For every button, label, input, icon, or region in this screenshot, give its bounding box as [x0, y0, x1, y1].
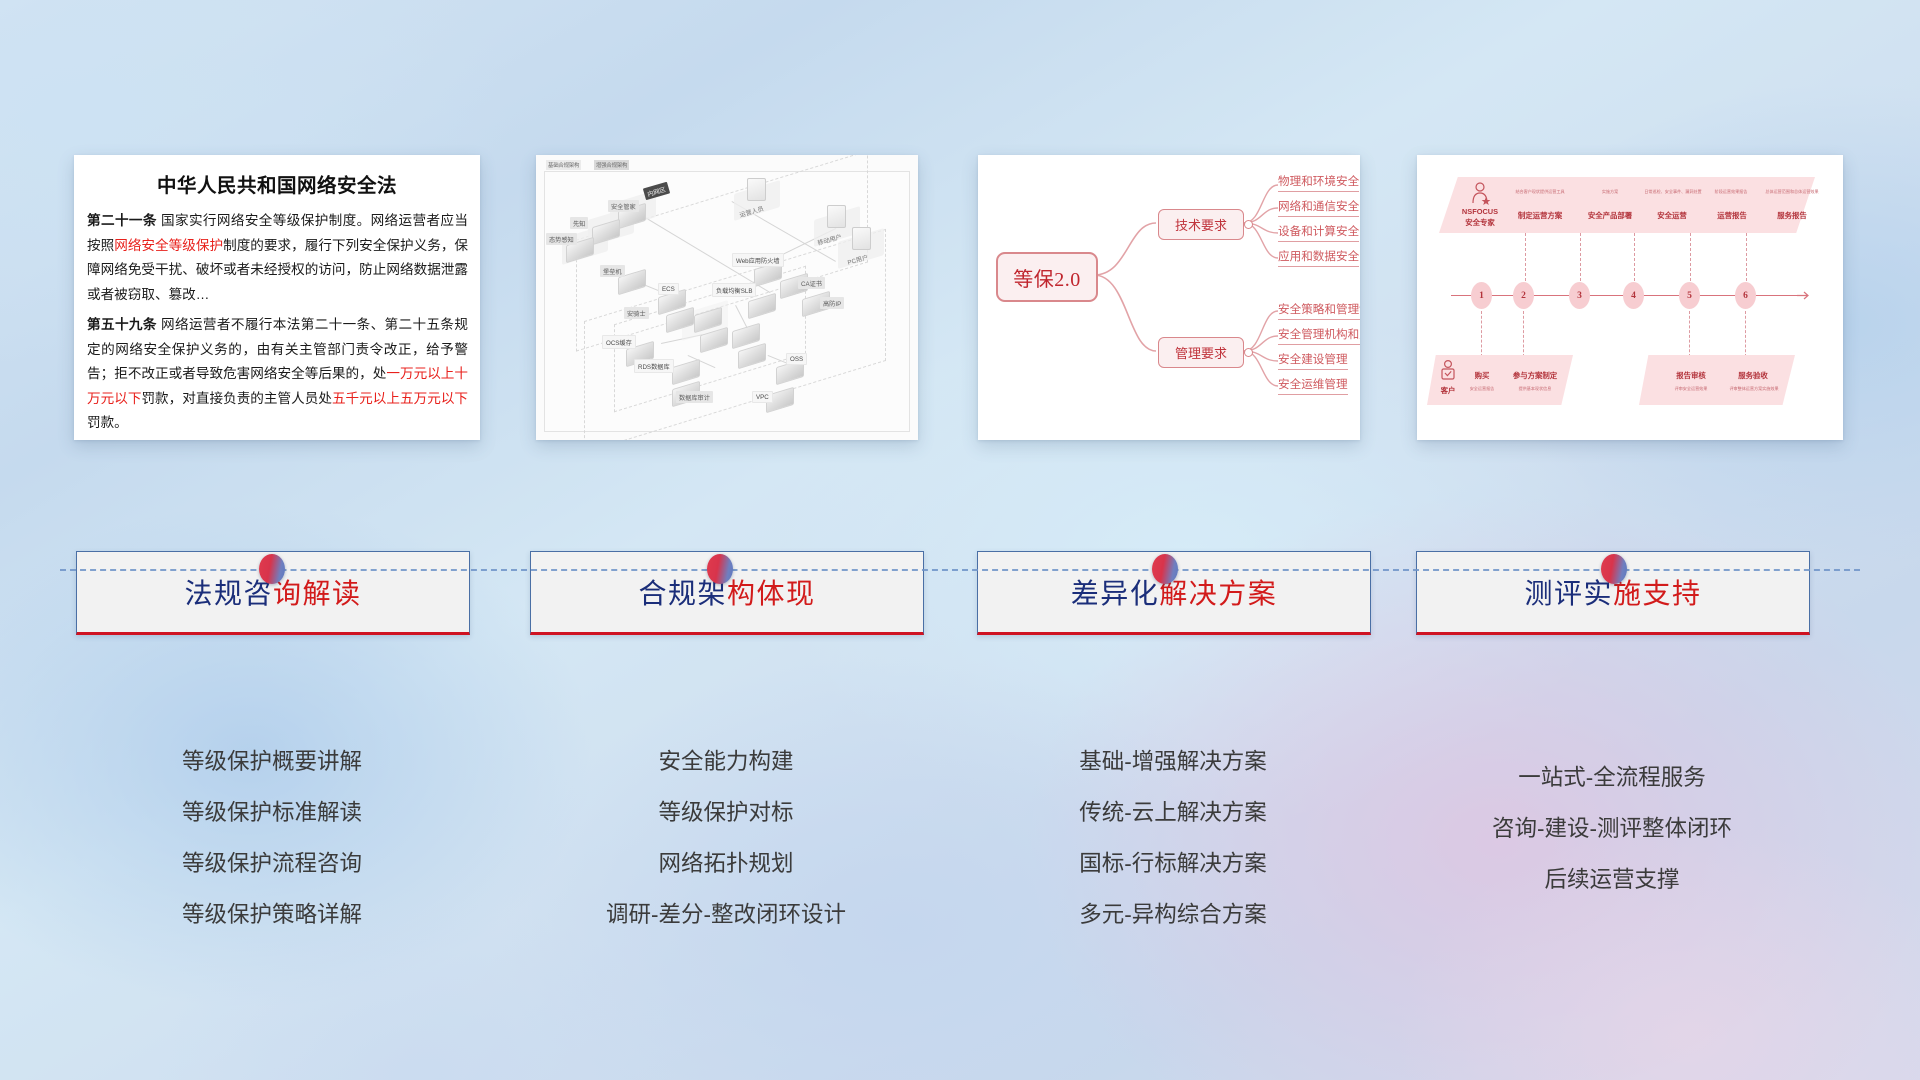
mindmap-leaf-tech-0: 物理和环境安全 — [1278, 173, 1359, 192]
arch-label-oss: OSS — [786, 353, 807, 365]
arch-label-waf: Web应用防火墙 — [732, 253, 784, 267]
arch-label-taishi: 态势感知 — [546, 233, 577, 245]
mindmap-branch-technical: 技术要求 — [1158, 209, 1244, 240]
list-item: 安全能力构建 — [530, 736, 922, 787]
roadmap-node-4: 4 — [1623, 282, 1644, 309]
customer-icon — [1439, 359, 1457, 383]
card-service-roadmap: NSFOCUS 安全专家 结合客户现状提供运营工具 制定运营方案 实施方案 安全… — [1417, 155, 1843, 440]
roadmap-step-2-title: 参与方案制定 — [1503, 370, 1567, 381]
roadmap-conn-top-6 — [1746, 233, 1748, 281]
timeline-dashed-line — [60, 569, 1860, 571]
roadmap-top-sub-4: 总体运营范围和总体运营效果 — [1737, 189, 1843, 195]
pillar-items-1: 安全能力构建 等级保护对标 网络拓扑规划 调研-差分-整改闭环设计 — [530, 736, 922, 940]
law-21-run-1-highlight: 网络安全等级保护 — [114, 238, 223, 253]
mindmap-branch-technical-label: 技术要求 — [1175, 215, 1227, 234]
timeline-dot-3[interactable] — [1601, 554, 1627, 584]
roadmap-step-5-sub: 评审安全运营效果 — [1661, 386, 1721, 392]
roadmap-node-2-number: 2 — [1521, 291, 1526, 301]
pillar-items-0: 等级保护概要讲解 等级保护标准解读 等级保护流程咨询 等级保护策略详解 — [76, 736, 468, 940]
arch-label-rds: RDS数据库 — [634, 359, 674, 373]
roadmap-node-1-number: 1 — [1479, 291, 1484, 301]
law-59-run-2: 罚款，对直接负责的主管人员处 — [141, 391, 332, 406]
list-item: 多元-异构综合方案 — [977, 889, 1369, 940]
pillar-title-1-red: 构体现 — [727, 578, 816, 609]
arch-screen-pc — [852, 227, 871, 250]
roadmap-conn-top-4 — [1634, 233, 1636, 281]
mindmap-branch-management: 管理要求 — [1158, 337, 1244, 368]
arch-label-xianzhi: 先知 — [570, 217, 588, 229]
slide-stage: 中华人民共和国网络安全法 第二十一条 国家实行网络安全等级保护制度。网络运营者应… — [0, 0, 1920, 1080]
timeline-dot-2[interactable] — [1152, 554, 1178, 584]
mindmap-leaf-mgmt-3: 安全运维管理 — [1278, 376, 1348, 395]
roadmap-step-1-title: 购买 — [1461, 370, 1503, 381]
list-item: 咨询-建设-测评整体闭环 — [1416, 803, 1808, 854]
roadmap-node-5-number: 5 — [1687, 291, 1692, 301]
law-paragraph-21: 第二十一条 国家实行网络安全等级保护制度。网络运营者应当按照网络安全等级保护制度… — [74, 209, 480, 307]
architecture-canvas: 基础合规架构 增强合规架构 — [536, 155, 918, 440]
roadmap-axis-arrow-icon — [1797, 290, 1811, 302]
mindmap-leaf-tech-1: 网络和通信安全 — [1278, 198, 1359, 217]
roadmap-canvas: NSFOCUS 安全专家 结合客户现状提供运营工具 制定运营方案 实施方案 安全… — [1417, 155, 1843, 440]
list-item: 后续运营支撑 — [1416, 854, 1808, 905]
mindmap-leaf-mgmt-0: 安全策略和管理制度 — [1278, 301, 1360, 320]
roadmap-conn-bot-5 — [1689, 311, 1691, 357]
list-item: 等级保护策略详解 — [76, 889, 468, 940]
arch-label-ocs: OCS缓存 — [602, 335, 636, 349]
roadmap-conn-bot-2 — [1523, 311, 1525, 357]
arch-label-slb: 负载均衡SLB — [712, 283, 756, 297]
roadmap-node-6: 6 — [1735, 282, 1756, 309]
arch-label-vpc: VPC — [752, 391, 773, 403]
roadmap-node-3-number: 3 — [1577, 291, 1582, 301]
roadmap-conn-top-3 — [1580, 233, 1582, 281]
pillar-items-2: 基础-增强解决方案 传统-云上解决方案 国标-行标解决方案 多元-异构综合方案 — [977, 736, 1369, 940]
arch-label-gaofang: 高防IP — [820, 297, 844, 309]
law-59-run-4: 罚款。 — [87, 415, 128, 430]
pillar-items-3: 一站式-全流程服务 咨询-建设-测评整体闭环 后续运营支撑 — [1416, 752, 1808, 905]
roadmap-node-4-number: 4 — [1631, 291, 1636, 301]
roadmap-step-6-title: 服务验收 — [1725, 370, 1781, 381]
roadmap-step-1-sub: 安全运营报告 — [1457, 386, 1507, 392]
timeline-dot-0[interactable] — [259, 554, 285, 584]
mindmap-leaf-mgmt-1: 安全管理机构和人员 — [1278, 326, 1360, 345]
roadmap-node-1: 1 — [1471, 282, 1492, 309]
arch-screen-ops — [747, 178, 766, 201]
arch-label-ca: CA证书 — [798, 277, 825, 289]
pillar-title-2-blue: 差异化 — [1071, 578, 1160, 609]
roadmap-top-title-4: 服务报告 — [1751, 210, 1833, 221]
timeline-dot-1[interactable] — [707, 554, 733, 584]
list-item: 基础-增强解决方案 — [977, 736, 1369, 787]
pillar-title-3-blue: 测评实 — [1524, 578, 1613, 609]
security-expert-icon — [1469, 181, 1491, 207]
mindmap-leaf-mgmt-2: 安全建设管理 — [1278, 351, 1348, 370]
roadmap-node-3: 3 — [1569, 282, 1590, 309]
arch-screen-mobile — [827, 205, 846, 228]
pillar-title-0-blue: 法规咨 — [184, 578, 273, 609]
mindmap-canvas: 等保2.0 技术要求 管理要求 物理和环境安全 网络和通信安全 设备和计算安全 … — [978, 155, 1360, 440]
pillar-title-3-red: 施支持 — [1613, 578, 1702, 609]
card-architecture-diagram: 基础合规架构 增强合规架构 — [536, 155, 918, 440]
mindmap-branch-management-label: 管理要求 — [1175, 343, 1227, 362]
list-item: 等级保护概要讲解 — [76, 736, 468, 787]
arch-label-dbaudit: 数据库审计 — [676, 391, 713, 403]
list-item: 传统-云上解决方案 — [977, 787, 1369, 838]
law-card-inner: 中华人民共和国网络安全法 第二十一条 国家实行网络安全等级保护制度。网络运营者应… — [74, 155, 480, 440]
roadmap-node-5: 5 — [1679, 282, 1700, 309]
law-title: 中华人民共和国网络安全法 — [74, 169, 480, 198]
arch-label-anqishi: 安骑士 — [624, 307, 649, 319]
list-item: 网络拓扑规划 — [530, 838, 922, 889]
list-item: 一站式-全流程服务 — [1416, 752, 1808, 803]
mindmap-leaf-tech-3: 应用和数据安全 — [1278, 248, 1359, 267]
card-law-text: 中华人民共和国网络安全法 第二十一条 国家实行网络安全等级保护制度。网络运营者应… — [74, 155, 480, 440]
mindmap-dot-technical — [1244, 220, 1253, 229]
roadmap-node-2: 2 — [1513, 282, 1534, 309]
list-item: 国标-行标解决方案 — [977, 838, 1369, 889]
roadmap-step-2-sub: 提供基本现状信息 — [1501, 386, 1569, 392]
roadmap-conn-bot-6 — [1745, 311, 1747, 357]
list-item: 等级保护标准解读 — [76, 787, 468, 838]
list-item: 等级保护对标 — [530, 787, 922, 838]
list-item: 调研-差分-整改闭环设计 — [530, 889, 922, 940]
roadmap-conn-top-2 — [1525, 233, 1527, 281]
pillar-title-0-red: 询解读 — [273, 578, 362, 609]
mindmap-root-node: 等保2.0 — [996, 252, 1098, 302]
law-paragraph-59: 第五十九条 网络运营者不履行本法第二十一条、第二十五条规定的网络安全保护义务的，… — [74, 313, 480, 436]
arch-tab-enhanced: 增强合规架构 — [594, 160, 629, 170]
mindmap-dot-management — [1244, 348, 1253, 357]
roadmap-step-5-title: 报告审核 — [1663, 370, 1719, 381]
roadmap-conn-top-5 — [1690, 233, 1692, 281]
arch-label-baoleiji: 堡垒机 — [600, 265, 625, 277]
arch-tab-basic: 基础合规架构 — [546, 160, 581, 170]
law-article-21-label: 第二十一条 — [87, 213, 157, 228]
roadmap-step-6-sub: 评审整体运营方案实施效果 — [1713, 386, 1795, 392]
law-article-59-label: 第五十九条 — [87, 317, 157, 332]
arch-label-ecs: ECS — [658, 283, 679, 295]
list-item: 等级保护流程咨询 — [76, 838, 468, 889]
roadmap-conn-bot-1 — [1481, 311, 1483, 357]
card-mindmap: 等保2.0 技术要求 管理要求 物理和环境安全 网络和通信安全 设备和计算安全 … — [978, 155, 1360, 440]
pillar-title-2-red: 解决方案 — [1159, 578, 1277, 609]
arch-label-guanjia: 安全管家 — [608, 200, 639, 212]
law-59-run-3-highlight: 五千元以上五万元以下 — [332, 391, 468, 406]
mindmap-root-label: 等保2.0 — [1013, 263, 1081, 292]
roadmap-node-6-number: 6 — [1743, 291, 1748, 301]
mindmap-leaf-tech-2: 设备和计算安全 — [1278, 223, 1359, 242]
